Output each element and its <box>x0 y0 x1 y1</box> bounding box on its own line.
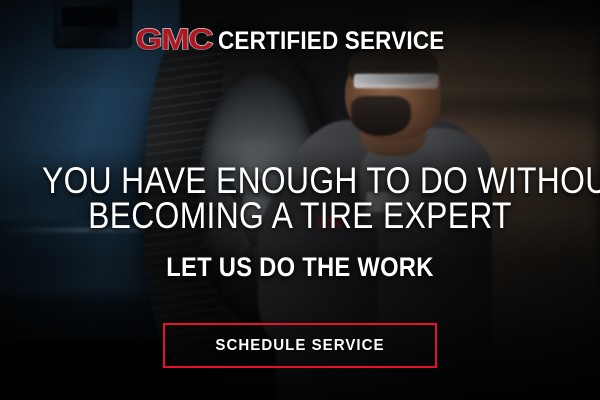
headline-line-2: BECOMING A TIRE EXPERT <box>42 198 558 233</box>
schedule-service-button-label: SCHEDULE SERVICE <box>215 337 384 355</box>
subheadline-text: LET US DO THE WORK <box>166 252 433 282</box>
headline-line-1: YOU HAVE ENOUGH TO DO WITHOUT <box>42 163 558 198</box>
headline: YOU HAVE ENOUGH TO DO WITHOUT BECOMING A… <box>0 163 600 233</box>
subheadline: LET US DO THE WORK <box>0 252 600 282</box>
schedule-service-button[interactable]: SCHEDULE SERVICE <box>163 323 437 368</box>
brand-lockup: GMC CERTIFIED SERVICE <box>0 24 600 58</box>
certified-service-label: CERTIFIED SERVICE <box>218 29 444 54</box>
gmc-logo: GMC <box>131 24 217 58</box>
gmc-certified-service-banner: GMC CERTIFIED SERVICE YOU HAVE ENOUGH TO… <box>0 0 600 400</box>
banner-content: GMC CERTIFIED SERVICE YOU HAVE ENOUGH TO… <box>0 0 600 400</box>
